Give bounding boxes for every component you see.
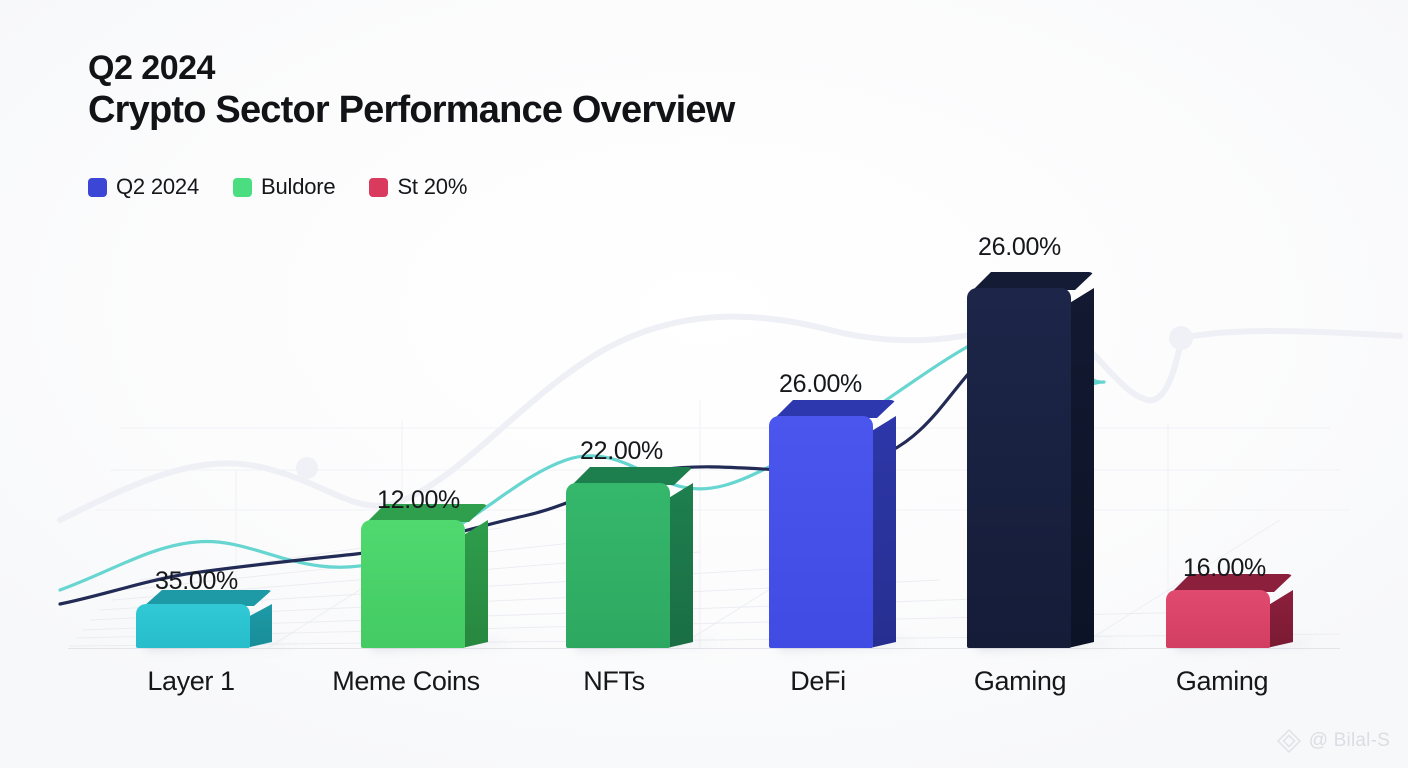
x-label-gaming-2: Gaming: [1176, 666, 1268, 697]
bar-side-face: [870, 416, 896, 648]
bar-nfts[interactable]: [566, 483, 688, 648]
legend-label: St 20%: [397, 174, 467, 200]
bar-side-face: [1267, 590, 1293, 648]
legend-label: Buldore: [261, 174, 335, 200]
bar-gaming[interactable]: [967, 288, 1089, 648]
bar-value-layer-1: 35.00%: [155, 567, 238, 596]
bar-gaming-2[interactable]: [1166, 590, 1288, 648]
x-label-nfts: NFTs: [583, 666, 644, 697]
x-label-layer-1: Layer 1: [147, 666, 234, 697]
watermark: @ Bilal-S: [1276, 728, 1390, 754]
legend-item-buldore[interactable]: Buldore: [233, 174, 335, 200]
x-label-meme-coins: Meme Coins: [332, 666, 480, 697]
bar-meme-coins[interactable]: [361, 520, 483, 648]
bar-value-meme-coins: 12.00%: [377, 486, 460, 515]
bar-value-nfts: 22.00%: [580, 437, 663, 466]
chart-subtitle: Q2 2024: [88, 48, 735, 88]
chart-canvas: Q2 2024 Crypto Sector Performance Overvi…: [0, 0, 1408, 768]
bar-value-gaming: 26.00%: [978, 233, 1061, 262]
bar-side-face: [667, 483, 693, 648]
legend-item-st-20[interactable]: St 20%: [369, 174, 467, 200]
legend-swatch-icon: [88, 178, 107, 197]
bar-front-face: [967, 288, 1071, 648]
legend-swatch-icon: [233, 178, 252, 197]
marker-gaming-2: [1169, 326, 1193, 350]
marker-ghost-left: [296, 457, 318, 479]
line-series-ghost: [60, 317, 1400, 520]
x-label-gaming: Gaming: [974, 666, 1066, 697]
bar-front-face: [566, 483, 670, 648]
bar-front-face: [1166, 590, 1270, 648]
bar-front-face: [136, 604, 250, 648]
bar-value-defi: 26.00%: [779, 370, 862, 399]
bar-value-gaming-2: 16.00%: [1183, 554, 1266, 583]
bar-defi[interactable]: [769, 416, 891, 648]
chart-legend: Q2 2024 Buldore St 20%: [88, 174, 467, 200]
watermark-text: @ Bilal-S: [1309, 730, 1390, 752]
legend-swatch-icon: [369, 178, 388, 197]
diamond-gem-icon: [1276, 728, 1302, 754]
bar-layer-1[interactable]: [136, 604, 266, 648]
bar-front-face: [769, 416, 873, 648]
legend-item-q2-2024[interactable]: Q2 2024: [88, 174, 199, 200]
chart-title: Crypto Sector Performance Overview: [88, 88, 735, 133]
legend-label: Q2 2024: [116, 174, 199, 200]
bar-side-face: [1068, 288, 1094, 648]
x-label-defi: DeFi: [790, 666, 845, 697]
chart-header: Q2 2024 Crypto Sector Performance Overvi…: [88, 48, 735, 133]
bar-front-face: [361, 520, 465, 648]
bar-side-face: [462, 520, 488, 648]
